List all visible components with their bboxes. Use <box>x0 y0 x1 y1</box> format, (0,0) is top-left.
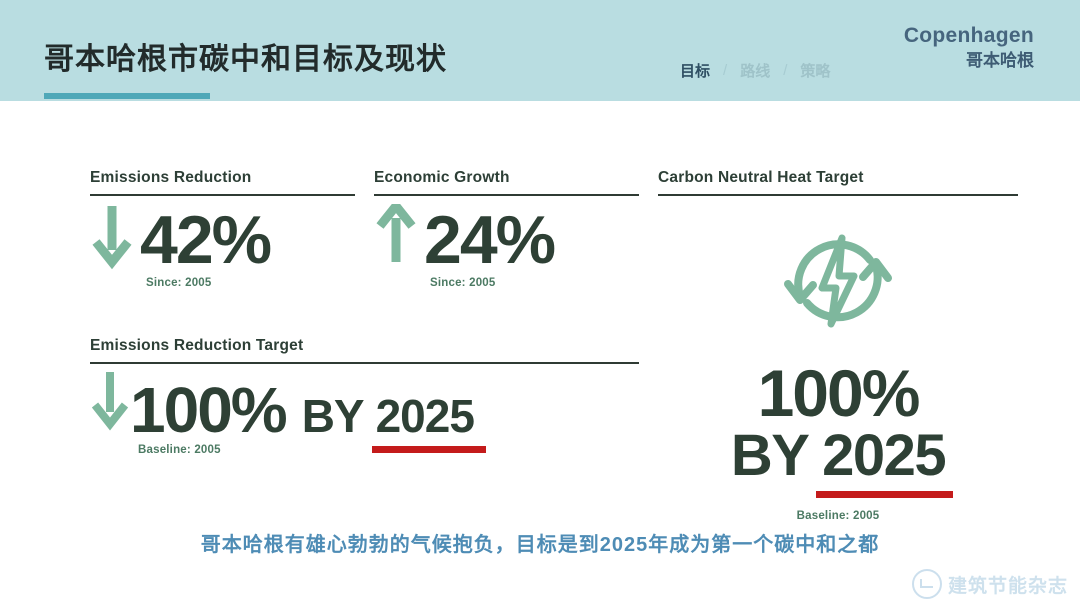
brand-name-en: Copenhagen <box>904 24 1034 48</box>
stat-row: 42% <box>90 204 355 275</box>
target-year: 2025 <box>376 393 474 439</box>
nav-separator-2: / <box>783 62 787 79</box>
up-arrow-icon <box>374 204 418 275</box>
brand-block: Copenhagen 哥本哈根 <box>904 24 1034 74</box>
stat-card-emissions-reduction-target: Emissions Reduction Target 100% BY 2025 … <box>90 337 639 456</box>
card-title: Emissions Reduction Target <box>90 337 639 355</box>
title-underline <box>44 93 210 99</box>
recycle-lightning-icon <box>774 218 902 347</box>
nav-item-goals[interactable]: 目标 <box>680 60 710 81</box>
stat-card-emissions-reduction: Emissions Reduction 42% Since: 2005 <box>90 169 355 289</box>
stat-note: Baseline: 2005 <box>797 510 880 522</box>
heat-by-label: BY <box>731 423 808 488</box>
slide-caption: 哥本哈根有雄心勃勃的气候抱负，目标是到2025年成为第一个碳中和之都 <box>0 528 1080 557</box>
heat-note-wrap: Baseline: 2005 <box>658 506 1018 524</box>
card-title: Emissions Reduction <box>90 169 355 187</box>
heat-target-by-line: BY 2025 <box>731 426 945 487</box>
page-header: 哥本哈根市碳中和目标及现状 目标 / 路线 / 策略 Copenhagen 哥本… <box>0 0 1080 101</box>
target-by-label: BY <box>302 393 364 439</box>
heat-target-value: 100% <box>658 361 1018 426</box>
target-value: 100% <box>130 378 286 442</box>
stat-row: 100% BY 2025 <box>90 370 639 442</box>
stat-row: 24% <box>374 204 639 275</box>
card-rule <box>90 194 355 196</box>
stat-card-economic-growth: Economic Growth 24% Since: 2005 <box>374 169 639 289</box>
nav-item-route[interactable]: 路线 <box>740 60 770 81</box>
card-rule <box>90 362 639 364</box>
top-nav: 目标 / 路线 / 策略 <box>680 60 830 81</box>
heat-icon-wrap <box>658 218 1018 347</box>
stat-note: Since: 2005 <box>146 277 355 289</box>
card-rule <box>658 194 1018 196</box>
stat-note: Since: 2005 <box>430 277 639 289</box>
card-title: Carbon Neutral Heat Target <box>658 169 1018 187</box>
page-title: 哥本哈根市碳中和目标及现状 <box>44 34 447 78</box>
card-title: Economic Growth <box>374 169 639 187</box>
stat-value: 42% <box>140 206 270 274</box>
down-arrow-icon <box>90 370 130 437</box>
card-rule <box>374 194 639 196</box>
heat-target-value-block: 100% BY 2025 <box>658 361 1018 487</box>
down-arrow-icon <box>90 204 134 275</box>
stat-value: 24% <box>424 206 554 274</box>
nav-item-strategy[interactable]: 策略 <box>800 60 830 81</box>
brand-name-cn: 哥本哈根 <box>904 48 1034 74</box>
stat-card-carbon-neutral-heat-target: Carbon Neutral Heat Target 100% BY <box>658 169 1018 524</box>
nav-separator-1: / <box>723 62 727 79</box>
heat-target-year: 2025 <box>822 423 945 488</box>
